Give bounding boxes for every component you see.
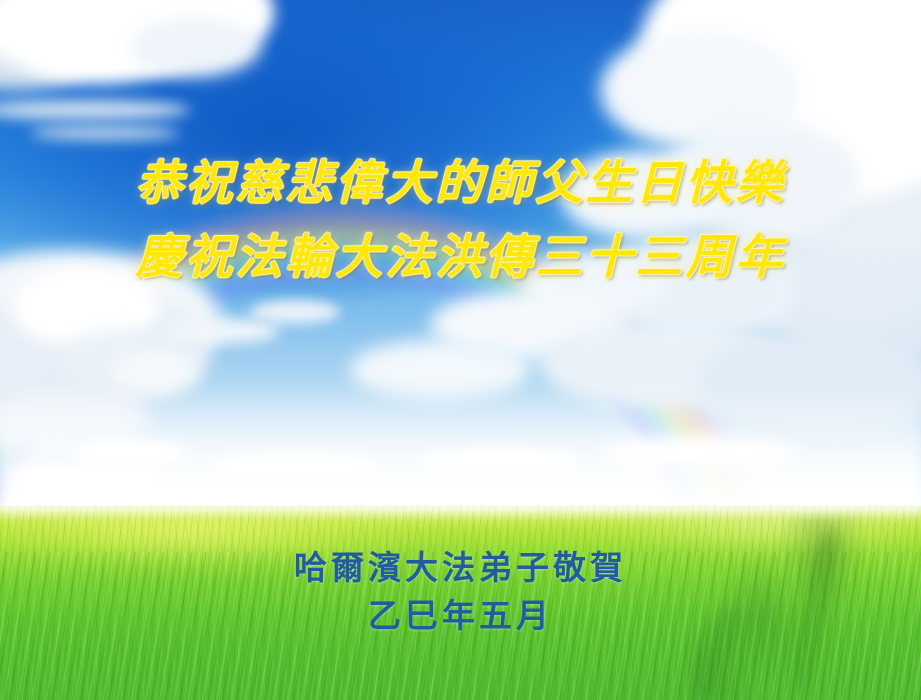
grass-horizon-line <box>0 506 921 520</box>
greeting-card: 恭祝慈悲偉大的師父生日快樂 慶祝法輪大法洪傳三十三周年 哈爾濱大法弟子敬賀 乙巳… <box>0 0 921 700</box>
cloud-puff <box>420 448 580 472</box>
cloud-puff <box>600 438 800 468</box>
signature-sender: 哈爾濱大法弟子敬賀 <box>0 549 921 587</box>
cloud-puff <box>70 440 190 464</box>
cloud-puff <box>130 18 260 76</box>
signature-date: 乙巳年五月 <box>0 597 921 635</box>
cloud-puff <box>250 300 340 324</box>
cloud-puff <box>210 452 380 478</box>
cloud-puff <box>10 466 170 486</box>
headline-anniversary-greeting: 慶祝法輪大法洪傳三十三周年 <box>0 232 921 284</box>
cloud-wisp <box>30 126 180 140</box>
cloud-puff <box>160 318 280 344</box>
headline-birthday-greeting: 恭祝慈悲偉大的師父生日快樂 <box>0 158 921 210</box>
